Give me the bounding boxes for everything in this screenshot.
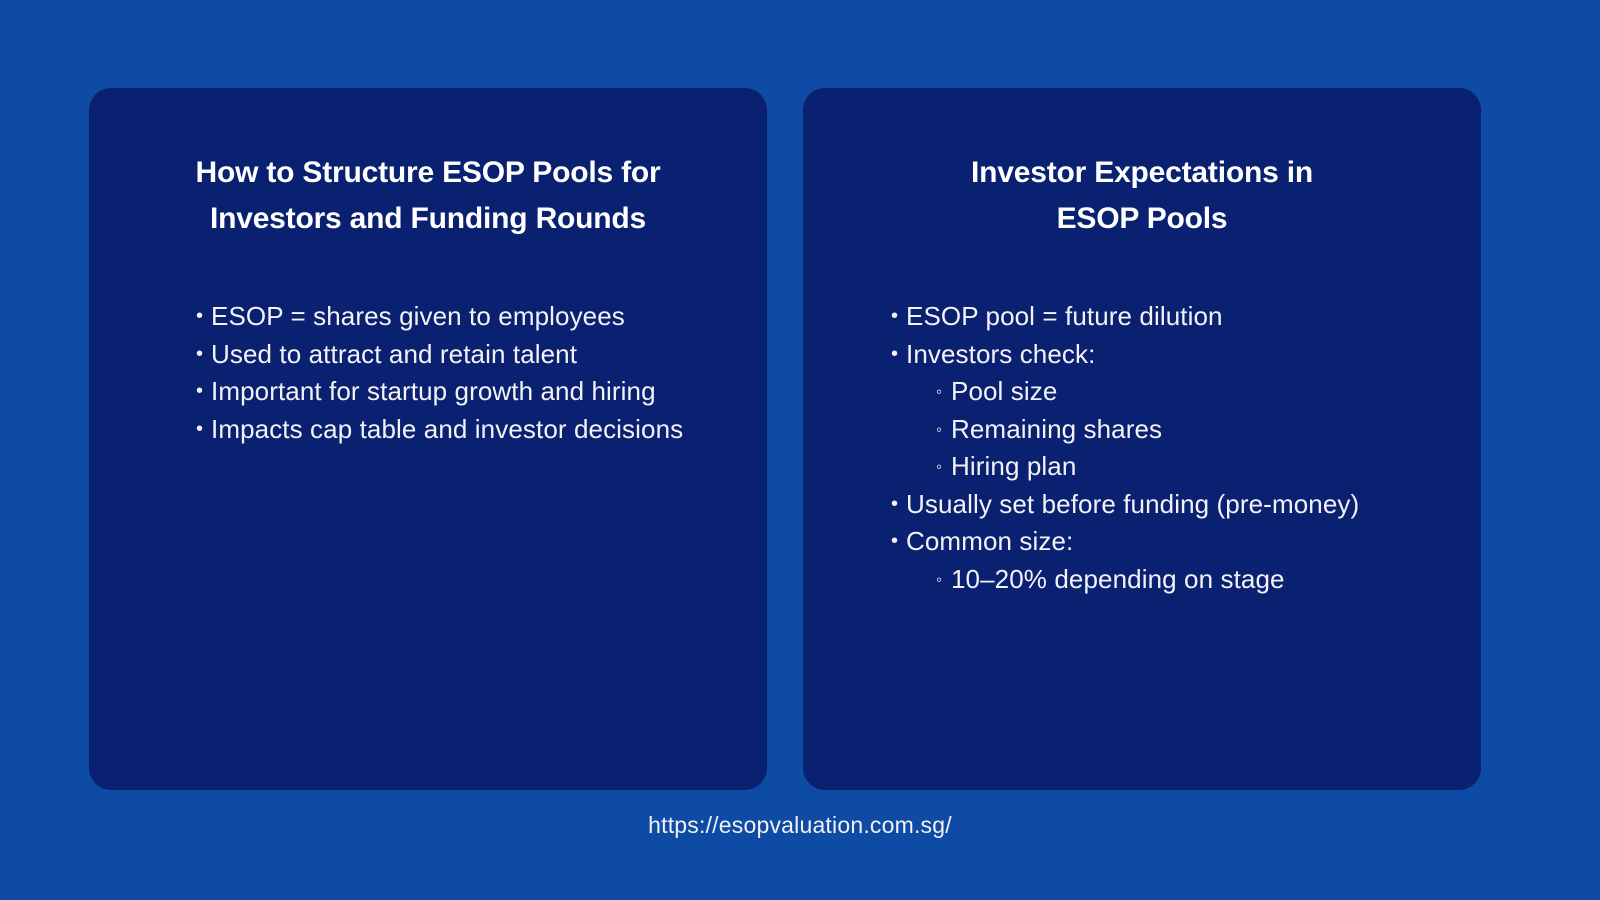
bullet-dot-icon: • — [196, 298, 211, 336]
bullet-item: ◦Pool size — [891, 373, 1461, 411]
bullet-circle-icon: ◦ — [936, 411, 951, 449]
bullet-text: Common size: — [906, 523, 1461, 561]
bullet-text: ESOP pool = future dilution — [906, 298, 1461, 336]
card-title-left: How to Structure ESOP Pools for Investor… — [89, 150, 767, 242]
bullet-list-left: •ESOP = shares given to employees•Used t… — [196, 298, 707, 448]
bullet-text: Remaining shares — [951, 411, 1461, 449]
bullet-dot-icon: • — [891, 523, 906, 561]
bullet-item: •ESOP = shares given to employees — [196, 298, 707, 336]
bullet-item: •Investors check: — [891, 336, 1461, 374]
card-body-right: •ESOP pool = future dilution•Investors c… — [803, 298, 1481, 598]
bullet-text: Used to attract and retain talent — [211, 336, 707, 374]
bullet-text: 10–20% depending on stage — [951, 561, 1461, 599]
card-investor-expectations: Investor Expectations in ESOP Pools •ESO… — [803, 88, 1481, 790]
slide-canvas: How to Structure ESOP Pools for Investor… — [0, 0, 1600, 900]
bullet-item: ◦Hiring plan — [891, 448, 1461, 486]
footer-url[interactable]: https://esopvaluation.com.sg/ — [0, 812, 1600, 839]
bullet-text: Hiring plan — [951, 448, 1461, 486]
bullet-item: •Important for startup growth and hiring — [196, 373, 707, 411]
bullet-item: •Common size: — [891, 523, 1461, 561]
bullet-dot-icon: • — [891, 298, 906, 336]
bullet-dot-icon: • — [196, 336, 211, 374]
bullet-text: ESOP = shares given to employees — [211, 298, 707, 336]
bullet-list-right: •ESOP pool = future dilution•Investors c… — [891, 298, 1461, 598]
bullet-text: Investors check: — [906, 336, 1461, 374]
bullet-circle-icon: ◦ — [936, 448, 951, 486]
bullet-text: Pool size — [951, 373, 1461, 411]
bullet-item: •Impacts cap table and investor decision… — [196, 411, 707, 449]
bullet-circle-icon: ◦ — [936, 373, 951, 411]
card-title-right: Investor Expectations in ESOP Pools — [803, 150, 1481, 242]
bullet-item: •Usually set before funding (pre-money) — [891, 486, 1461, 524]
bullet-item: •Used to attract and retain talent — [196, 336, 707, 374]
bullet-item: ◦Remaining shares — [891, 411, 1461, 449]
bullet-item: •ESOP pool = future dilution — [891, 298, 1461, 336]
bullet-dot-icon: • — [891, 486, 906, 524]
bullet-text: Usually set before funding (pre-money) — [906, 486, 1461, 524]
bullet-text: Important for startup growth and hiring — [211, 373, 707, 411]
bullet-item: ◦10–20% depending on stage — [891, 561, 1461, 599]
card-how-to-structure-esop-pools: How to Structure ESOP Pools for Investor… — [89, 88, 767, 790]
bullet-dot-icon: • — [891, 336, 906, 374]
bullet-dot-icon: • — [196, 373, 211, 411]
card-container: How to Structure ESOP Pools for Investor… — [89, 88, 1481, 790]
bullet-text: Impacts cap table and investor decisions — [211, 411, 707, 449]
bullet-circle-icon: ◦ — [936, 561, 951, 599]
bullet-dot-icon: • — [196, 411, 211, 449]
card-body-left: •ESOP = shares given to employees•Used t… — [89, 298, 767, 448]
